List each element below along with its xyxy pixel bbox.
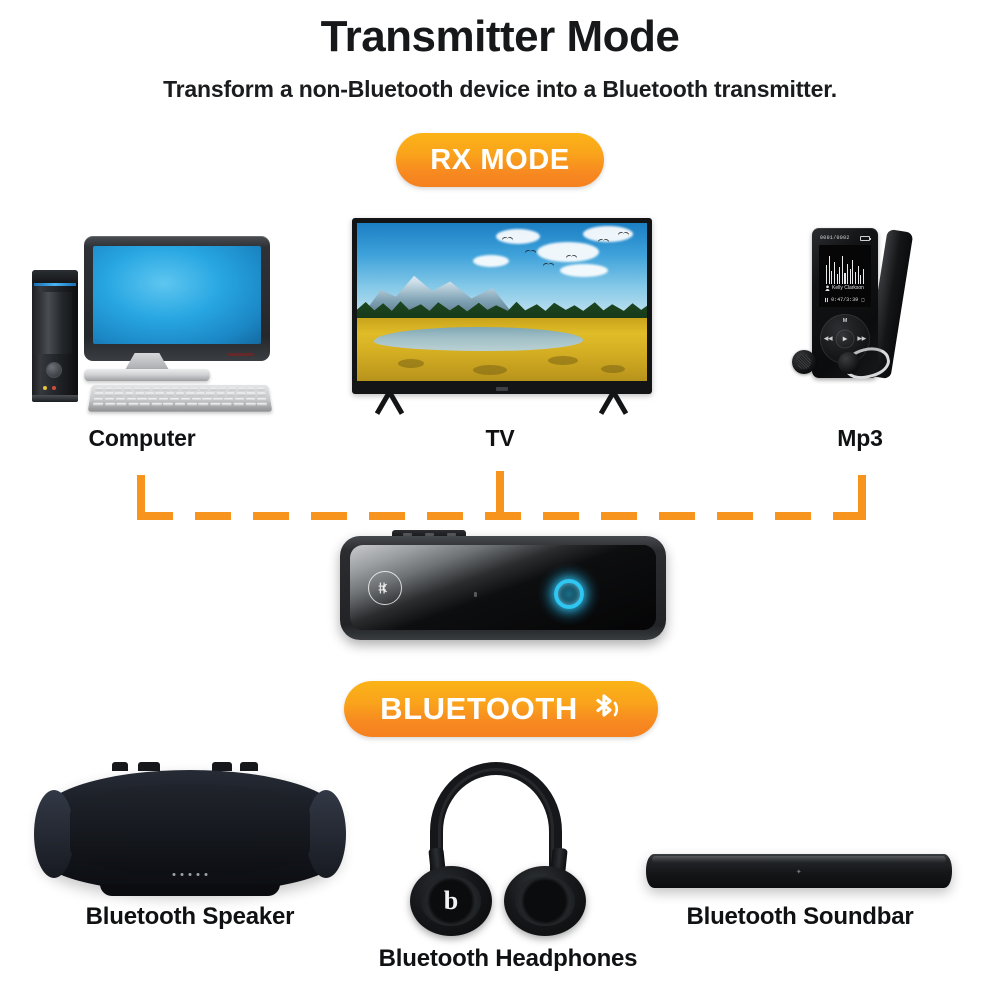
keyboard-key xyxy=(238,388,246,391)
soundbar-body: ✦ xyxy=(646,854,952,888)
rx-mode-badge: RX MODE xyxy=(396,133,604,187)
computer-monitor xyxy=(84,236,270,361)
bluetooth-label: BLUETOOTH xyxy=(380,691,578,727)
earbud-mesh xyxy=(797,355,811,369)
keyboard-key xyxy=(257,398,267,401)
keyboard-key xyxy=(176,393,185,396)
keyboard-key xyxy=(143,388,151,391)
soundbar-icon: ✦ xyxy=(646,848,952,896)
receiver-shell xyxy=(340,536,666,640)
keyboard-row xyxy=(93,403,267,406)
tv-bird xyxy=(502,237,513,242)
transmitter-mode-infographic: Transmitter Mode Transform a non-Bluetoo… xyxy=(0,0,1000,1000)
keyboard-key xyxy=(125,393,134,396)
bluetooth-transmitter-receiver[interactable] xyxy=(340,530,666,642)
desktop-computer-icon xyxy=(12,228,282,418)
keyboard-key xyxy=(257,393,266,396)
keyboard-key xyxy=(187,403,197,406)
keyboard-key xyxy=(192,398,201,401)
device-label-bluetooth-headphones: Bluetooth Headphones xyxy=(358,945,658,973)
monitor-brand-mark xyxy=(228,353,254,356)
tv-bird xyxy=(543,263,554,268)
speaker-button xyxy=(212,762,232,771)
keyboard-key xyxy=(115,393,124,396)
headphone-earcup-left: b xyxy=(410,866,492,936)
keyboard-key xyxy=(105,403,115,406)
speaker-led xyxy=(189,873,192,876)
prev-track-icon[interactable]: ◀◀ xyxy=(824,336,832,342)
tv-scrub xyxy=(601,365,625,373)
keyboard-key xyxy=(148,398,157,401)
keyboard-key xyxy=(196,393,205,396)
tv-cloud xyxy=(473,255,509,267)
keyboard-key xyxy=(162,388,170,391)
television-icon xyxy=(352,218,652,418)
keyboard-key xyxy=(170,398,179,401)
tv-bird xyxy=(598,239,609,244)
eq-bar xyxy=(829,256,830,284)
computer-keyboard xyxy=(88,385,272,412)
headphone-earcup-right xyxy=(504,866,586,936)
keyboard-key xyxy=(159,398,168,401)
keyboard-key xyxy=(247,393,256,396)
keyboard-key xyxy=(163,403,173,406)
keyboard-key xyxy=(226,393,235,396)
keyboard-key xyxy=(137,398,146,401)
keyboard-key xyxy=(128,403,138,406)
keyboard-key xyxy=(181,388,189,391)
keyboard-row xyxy=(95,388,265,391)
keyboard-key xyxy=(95,388,103,391)
eq-bar xyxy=(858,266,859,284)
keyboard-key xyxy=(190,388,198,391)
computer-tower xyxy=(32,270,78,402)
tv-scrub xyxy=(473,365,507,375)
keyboard-key xyxy=(135,393,144,396)
keyboard-key xyxy=(237,393,246,396)
mp3-status-bar: 0001/0002 xyxy=(820,234,870,242)
keyboard-key xyxy=(181,398,190,401)
keyboard-key xyxy=(216,393,225,396)
speaker-button xyxy=(112,762,128,771)
keyboard-row xyxy=(94,393,265,396)
battery-icon xyxy=(860,236,870,241)
keyboard-key xyxy=(206,393,215,396)
keyboard-key xyxy=(213,398,222,401)
device-label-bluetooth-soundbar: Bluetooth Soundbar xyxy=(650,903,950,931)
speaker-battery-leds xyxy=(173,873,208,876)
next-track-icon[interactable]: ▶▶ xyxy=(858,336,866,342)
keyboard-key xyxy=(126,398,136,401)
artist-icon xyxy=(825,285,830,291)
speaker-led xyxy=(173,873,176,876)
speaker-body xyxy=(40,770,340,892)
eq-bar xyxy=(847,264,848,284)
keyboard-row xyxy=(94,398,267,401)
keyboard-key xyxy=(198,403,208,406)
eq-bar xyxy=(850,269,851,284)
keyboard-key xyxy=(104,398,114,401)
device-label-tv: TV xyxy=(400,425,600,452)
tower-led-amber xyxy=(43,386,47,390)
led-ring xyxy=(554,579,584,609)
speaker-led xyxy=(205,873,208,876)
tv-cloud xyxy=(560,264,608,277)
tower-accent-stripe xyxy=(34,283,76,286)
keyboard-key xyxy=(175,403,185,406)
tv-frame xyxy=(352,218,652,394)
rx-mode-label: RX MODE xyxy=(430,144,570,177)
keyboard-key xyxy=(222,403,232,406)
receiver-microphone xyxy=(474,592,477,597)
eq-bar xyxy=(860,275,861,284)
speaker-led xyxy=(181,873,184,876)
keyboard-key xyxy=(224,398,234,401)
keyboard-key xyxy=(200,388,208,391)
keyboard-key xyxy=(186,393,195,396)
play-pause-icon[interactable]: ▶ xyxy=(836,330,855,349)
eq-bar xyxy=(863,269,864,284)
keyboard-key xyxy=(151,403,161,406)
eq-bar xyxy=(837,274,838,284)
keyboard-key xyxy=(166,393,175,396)
receiver-face xyxy=(350,545,656,630)
keyboard-key xyxy=(105,393,114,396)
keyboard-key xyxy=(233,403,243,406)
eq-bar xyxy=(839,267,840,284)
speaker-led xyxy=(197,873,200,876)
power-button-icon xyxy=(46,362,62,378)
earbud-right-icon xyxy=(838,352,860,374)
keyboard-key xyxy=(219,388,227,391)
keyboard-key xyxy=(140,403,150,406)
keyboard-key xyxy=(202,398,211,401)
over-ear-headphones-icon: b xyxy=(408,762,588,927)
keyboard-key xyxy=(145,393,154,396)
tower-base xyxy=(32,395,78,402)
mp3-file-counter: 0001/0002 xyxy=(820,235,850,241)
keyboard-key xyxy=(133,388,141,391)
tv-stand-leg-left xyxy=(370,392,410,416)
keyboard-key xyxy=(256,388,264,391)
keyboard-key xyxy=(116,403,126,406)
repeat-icon xyxy=(861,297,865,303)
tv-bird xyxy=(618,232,629,237)
headphone-brand-logo-icon: b xyxy=(444,886,458,916)
bluetooth-badge: BLUETOOTH xyxy=(344,681,658,737)
page-title: Transmitter Mode xyxy=(0,12,1000,62)
speaker-end-cap-right xyxy=(306,790,346,878)
portable-speaker-icon xyxy=(40,762,340,902)
mp3-menu-label[interactable]: M xyxy=(843,318,848,324)
tower-top-panel xyxy=(32,270,78,283)
keyboard-key xyxy=(94,393,103,396)
eq-bar xyxy=(834,262,835,284)
device-label-mp3: Mp3 xyxy=(760,425,960,452)
tv-stand-leg-right xyxy=(594,392,634,416)
page-subtitle: Transform a non-Bluetooth device into a … xyxy=(0,76,1000,103)
tower-drive-bay xyxy=(38,292,72,354)
keyboard-key xyxy=(114,388,122,391)
keyboard-key xyxy=(246,398,256,401)
mp3-equalizer xyxy=(826,252,864,284)
keyboard-key xyxy=(94,398,104,401)
mp3-time-row: 0:47/3:39 xyxy=(825,297,865,303)
keyboard-key xyxy=(210,403,220,406)
tower-led-red xyxy=(52,386,56,390)
keyboard-key xyxy=(209,388,217,391)
mp3-elapsed-time: 0:47/3:39 xyxy=(831,297,858,303)
keyboard-key xyxy=(245,403,255,406)
soundbar-top-highlight xyxy=(652,856,946,863)
status-led-indicator xyxy=(554,579,584,609)
brand-circle-logo-icon xyxy=(368,571,402,605)
mp3-artist-name: Kelly Clarkson xyxy=(832,285,864,291)
speaker-grille xyxy=(70,784,310,874)
keyboard-key xyxy=(124,388,132,391)
tv-brand-logo xyxy=(496,387,508,391)
keyboard-key xyxy=(171,388,179,391)
keyboard-key xyxy=(115,398,125,401)
eq-bar xyxy=(852,260,853,284)
keyboard-key xyxy=(155,393,164,396)
eq-bar xyxy=(831,271,832,284)
speaker-end-cap-left xyxy=(34,790,74,878)
earcup-pad xyxy=(515,876,575,926)
speaker-button xyxy=(240,762,258,771)
keyboard-key xyxy=(105,388,113,391)
eq-bar xyxy=(842,256,843,284)
tv-bird xyxy=(525,250,536,255)
keyboard-key xyxy=(257,403,268,406)
device-label-computer: Computer xyxy=(42,425,242,452)
keyboard-key xyxy=(228,388,236,391)
eq-bar xyxy=(844,273,845,284)
soundbar-brand-logo-icon: ✦ xyxy=(792,868,806,877)
tv-scene-lake xyxy=(374,327,583,351)
keyboard-key xyxy=(93,403,104,406)
eq-bar xyxy=(855,272,856,284)
keyboard-key xyxy=(247,388,255,391)
mp3-screen: Kelly Clarkson 0:47/3:39 xyxy=(819,245,871,307)
pause-icon xyxy=(825,297,828,303)
eq-bar xyxy=(826,265,827,284)
speaker-button xyxy=(138,762,160,771)
mp3-track-info: Kelly Clarkson xyxy=(825,285,864,291)
tv-bird xyxy=(566,255,577,260)
mp3-player-icon: 0001/0002 Kelly Clarkson 0:47/3:39 M VOL xyxy=(786,222,936,417)
monitor-stand xyxy=(84,369,210,381)
speaker-base xyxy=(100,884,280,896)
monitor-screen xyxy=(93,246,261,344)
tv-screen xyxy=(357,223,647,381)
device-label-bluetooth-speaker: Bluetooth Speaker xyxy=(40,903,340,931)
earbud-left-icon xyxy=(792,350,816,374)
bluetooth-icon xyxy=(590,691,622,727)
keyboard-key xyxy=(152,388,160,391)
keyboard-key xyxy=(235,398,245,401)
